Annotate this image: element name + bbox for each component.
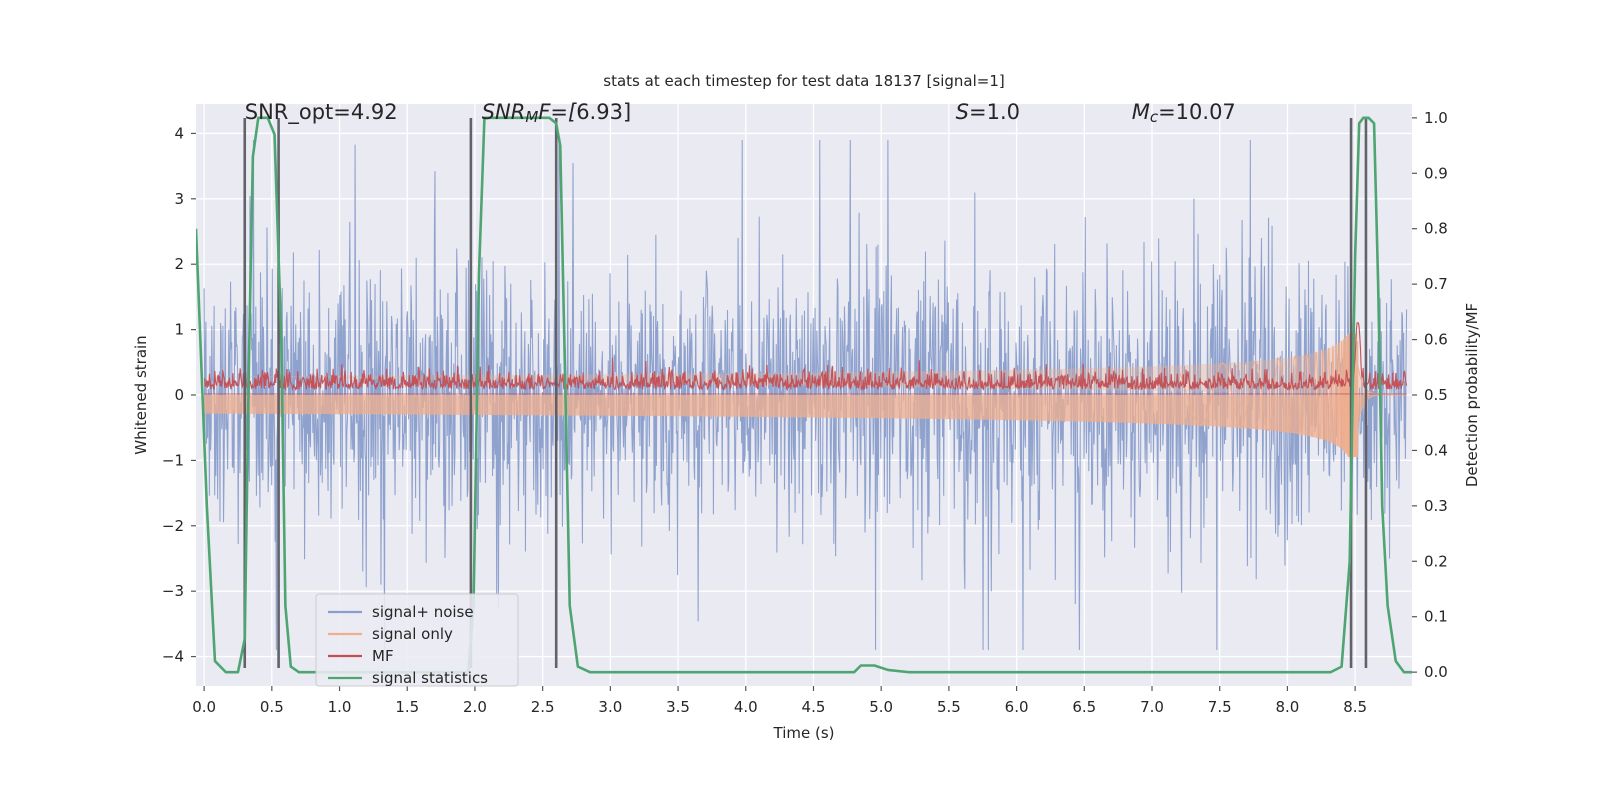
annotation-chirp-mass-text: Mc=10.07 [1132, 100, 1236, 126]
y-tick-label-right: 0.8 [1424, 220, 1448, 238]
legend-label-1: signal only [372, 625, 453, 643]
x-tick-label: 2.0 [463, 698, 487, 716]
y-tick-label-left: 0 [174, 386, 184, 404]
y-tick-label-left: 3 [174, 190, 184, 208]
x-tick-label: 3.5 [666, 698, 690, 716]
x-tick-label: 6.5 [1072, 698, 1096, 716]
x-tick-label: 6.0 [1005, 698, 1029, 716]
annotation-chirp-mass: Mc=10.07 [1132, 100, 1236, 126]
y-tick-label-right: 1.0 [1424, 109, 1448, 127]
y-tick-label-left: −4 [162, 648, 184, 666]
matplotlib-figure: 0.00.51.01.52.02.53.03.54.04.55.05.56.06… [0, 0, 1600, 800]
y-tick-label-right: 0.4 [1424, 441, 1448, 459]
y-tick-label-right: 0.7 [1424, 275, 1448, 293]
annotation-snr-opt-text: SNR_opt=4.92 [245, 100, 398, 125]
x-tick-label: 1.5 [395, 698, 419, 716]
y-axis-label-right: Detection probability/MF [1463, 303, 1481, 487]
x-tick-label: 7.5 [1208, 698, 1232, 716]
annotation-snr-mf-text: SNRMF=[6.93] [482, 100, 631, 126]
y-axis-label-left: Whitened strain [132, 335, 150, 454]
figure-title: stats at each timestep for test data 181… [603, 72, 1004, 90]
y-tick-label-left: 4 [174, 124, 184, 142]
legend: signal+ noisesignal onlyMFsignal statist… [316, 594, 518, 687]
x-tick-label: 0.5 [260, 698, 284, 716]
x-tick-label: 4.0 [734, 698, 758, 716]
x-tick-label: 8.0 [1275, 698, 1299, 716]
x-tick-label: 0.0 [192, 698, 216, 716]
x-tick-label: 7.0 [1140, 698, 1164, 716]
y-tick-label-right: 0.1 [1424, 608, 1448, 626]
legend-label-0: signal+ noise [372, 603, 474, 621]
legend-label-2: MF [372, 647, 394, 665]
y-tick-label-right: 0.6 [1424, 331, 1448, 349]
annotation-stat-s: S=1.0 [956, 100, 1020, 124]
x-tick-label: 1.0 [328, 698, 352, 716]
x-tick-label: 8.5 [1343, 698, 1367, 716]
x-tick-label: 5.0 [869, 698, 893, 716]
y-tick-label-right: 0.2 [1424, 552, 1448, 570]
annotation-snr-opt: SNR_opt=4.92 [245, 100, 398, 125]
x-axis-label: Time (s) [773, 724, 835, 742]
y-tick-label-left: −2 [162, 517, 184, 535]
legend-label-3: signal statistics [372, 669, 488, 687]
y-tick-label-right: 0.9 [1424, 164, 1448, 182]
y-tick-label-right: 0.3 [1424, 497, 1448, 515]
x-tick-label: 4.5 [802, 698, 826, 716]
x-tick-label: 5.5 [937, 698, 961, 716]
x-tick-label: 2.5 [531, 698, 555, 716]
y-tick-label-left: −1 [162, 451, 184, 469]
annotation-snr-mf: SNRMF=[6.93] [482, 100, 631, 126]
y-tick-label-left: −3 [162, 582, 184, 600]
annotation-stat-s-text: S=1.0 [956, 100, 1020, 124]
y-tick-label-right: 0.0 [1424, 663, 1448, 681]
y-tick-label-right: 0.5 [1424, 386, 1448, 404]
y-tick-label-left: 2 [174, 255, 184, 273]
y-tick-label-left: 1 [174, 321, 184, 339]
figure-canvas: 0.00.51.01.52.02.53.03.54.04.55.05.56.06… [0, 0, 1600, 800]
x-tick-label: 3.0 [598, 698, 622, 716]
